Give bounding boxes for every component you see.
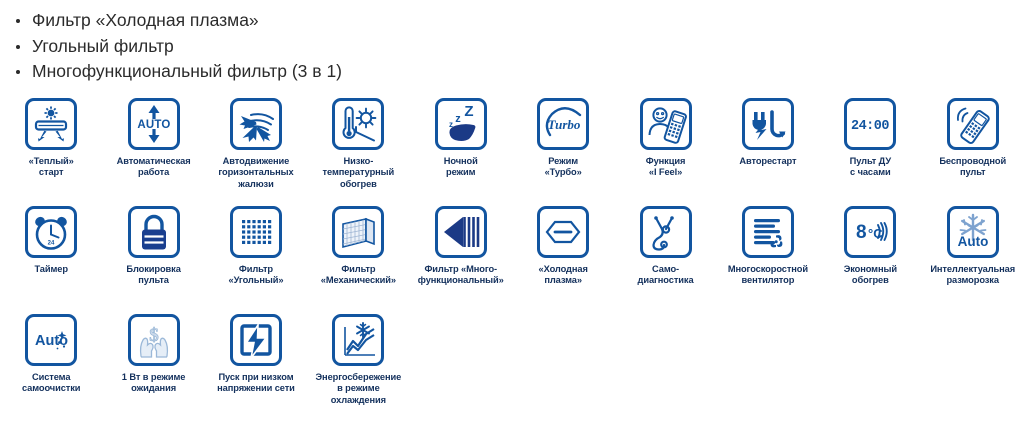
feature-cell-low-voltage-start[interactable]: Пуск при низкомнапряжении сети: [205, 314, 307, 422]
feature-cell-energy-saving-cooling[interactable]: Энергосбережениев режимеохлаждения: [307, 314, 409, 422]
feature-label: Энергосбережениев режимеохлаждения: [308, 372, 408, 406]
feature-label: Таймер: [1, 264, 101, 275]
feature-label: «Теплый»старт: [1, 156, 101, 179]
wireless-remote-icon: [947, 98, 999, 150]
defrost-auto-label: Auto: [957, 234, 988, 249]
self-cleaning-system-icon: Auto: [25, 314, 77, 366]
horizontal-louver-swing-icon: [230, 98, 282, 150]
feature-icon-grid: «Теплый»старт AUTO Автоматическаяработа: [0, 98, 1024, 422]
feature-label: Автодвижениегоризонтальныхжалюзи: [206, 156, 306, 190]
feature-label: Функция«I Feel»: [616, 156, 716, 179]
feature-cell-cold-plasma[interactable]: «Холоднаяплазма»: [512, 206, 614, 314]
cold-plasma-icon: [537, 206, 589, 258]
timer-icon: 24: [25, 206, 77, 258]
remote-with-clock-icon: 24:00: [844, 98, 896, 150]
feature-cell-remote-lock[interactable]: Блокировкапульта: [102, 206, 204, 314]
feature-label: Автоматическаяработа: [104, 156, 204, 179]
self-diagnostics-icon: [640, 206, 692, 258]
feature-label: Режим«Турбо»: [513, 156, 613, 179]
auto-operation-icon: AUTO: [128, 98, 180, 150]
energy-saving-cooling-icon: [332, 314, 384, 366]
feature-label: Фильтр«Угольный»: [206, 264, 306, 287]
feature-cell-i-feel[interactable]: Функция«I Feel»: [614, 98, 716, 206]
feature-label: Системасамоочистки: [1, 372, 101, 395]
feature-cell-remote-with-clock[interactable]: 24:00 Пульт ДУс часами: [819, 98, 921, 206]
feature-cell-auto-restart[interactable]: Авторестарт: [717, 98, 819, 206]
economy-temp-value: 8: [856, 222, 867, 243]
carbon-filter-icon: [230, 206, 282, 258]
feature-cell-wireless-remote[interactable]: Беспроводнойпульт: [922, 98, 1024, 206]
feature-label: Фильтр «Много-функциональный»: [411, 264, 511, 287]
icon-row-1: «Теплый»старт AUTO Автоматическаяработа: [0, 98, 1024, 206]
feature-cell-turbo-mode[interactable]: Turbo Режим«Турбо»: [512, 98, 614, 206]
z-large: Z: [464, 103, 473, 120]
feature-cell-warm-start[interactable]: «Теплый»старт: [0, 98, 102, 206]
intelligent-defrost-icon: Auto: [947, 206, 999, 258]
feature-cell-timer[interactable]: 24 Таймер: [0, 206, 102, 314]
feature-label: Экономныйобогрев: [820, 264, 920, 287]
feature-cell-one-watt-standby[interactable]: $ 1 Вт в режимеожидания: [102, 314, 204, 422]
icon-row-2: 24 Таймер Блокировкапульта: [0, 206, 1024, 314]
feature-cell-low-temp-heating[interactable]: Низко-температурныйобогрев: [307, 98, 409, 206]
list-item: Угольный фильтр: [14, 34, 1024, 60]
feature-label: Само-диагностика: [616, 264, 716, 287]
auto-label: AUTO: [137, 119, 170, 131]
feature-cell-carbon-filter[interactable]: Фильтр«Угольный»: [205, 206, 307, 314]
economy-heating-8c-icon: 8 °C: [844, 206, 896, 258]
feature-cell-mechanical-filter[interactable]: Фильтр«Механический»: [307, 206, 409, 314]
feature-label: Фильтр«Механический»: [308, 264, 408, 287]
multifunction-filter-icon: [435, 206, 487, 258]
feature-cell-louver-swing[interactable]: Автодвижениегоризонтальныхжалюзи: [205, 98, 307, 206]
low-temperature-heating-icon: [332, 98, 384, 150]
feature-label: «Холоднаяплазма»: [513, 264, 613, 287]
multi-speed-fan-icon: [742, 206, 794, 258]
low-voltage-start-icon: [230, 314, 282, 366]
feature-label: Пуск при низкомнапряжении сети: [206, 372, 306, 395]
feature-cell-self-cleaning[interactable]: Auto Системасамоочистки: [0, 314, 102, 422]
feature-cell-self-diagnostics[interactable]: Само-диагностика: [614, 206, 716, 314]
feature-label: Беспроводнойпульт: [923, 156, 1023, 179]
clock-time-label: 24:00: [851, 119, 889, 134]
feature-cell-multifunction-filter[interactable]: Фильтр «Много-функциональный»: [410, 206, 512, 314]
turbo-label: Turbo: [548, 117, 581, 132]
feature-cell-economy-heating[interactable]: 8 °C Экономныйобогрев: [819, 206, 921, 314]
i-feel-function-icon: [640, 98, 692, 150]
list-item: Многофункциональный фильтр (3 в 1): [14, 59, 1024, 85]
feature-label: 1 Вт в режимеожидания: [104, 372, 204, 395]
warm-start-icon: [25, 98, 77, 150]
feature-label: Блокировкапульта: [104, 264, 204, 287]
feature-cell-multi-speed-fan[interactable]: Многоскоростнойвентилятор: [717, 206, 819, 314]
feature-label: Авторестарт: [718, 156, 818, 167]
feature-label: Интеллектуальнаяразморозка: [923, 264, 1023, 287]
mechanical-filter-icon: [332, 206, 384, 258]
feature-cell-intelligent-defrost[interactable]: Auto Интеллектуальнаяразморозка: [922, 206, 1024, 314]
sleep-mode-icon: Z z z: [435, 98, 487, 150]
list-item: Фильтр «Холодная плазма»: [14, 8, 1024, 34]
feature-label: Многоскоростнойвентилятор: [718, 264, 818, 287]
feature-label: Низко-температурныйобогрев: [308, 156, 408, 190]
z-medium: z: [455, 113, 461, 125]
turbo-mode-icon: Turbo: [537, 98, 589, 150]
feature-cell-auto-operation[interactable]: AUTO Автоматическаяработа: [102, 98, 204, 206]
feature-label: Пульт ДУс часами: [820, 156, 920, 179]
auto-restart-icon: [742, 98, 794, 150]
timer-dial-label: 24: [48, 241, 55, 247]
feature-label: Ночнойрежим: [411, 156, 511, 179]
remote-lock-icon: [128, 206, 180, 258]
feature-cell-sleep-mode[interactable]: Z z z Ночнойрежим: [410, 98, 512, 206]
feature-bullet-list: Фильтр «Холодная плазма» Угольный фильтр…: [0, 0, 1024, 85]
one-watt-standby-icon: $: [128, 314, 180, 366]
icon-row-3: Auto Системасамоочистки $: [0, 314, 1024, 422]
